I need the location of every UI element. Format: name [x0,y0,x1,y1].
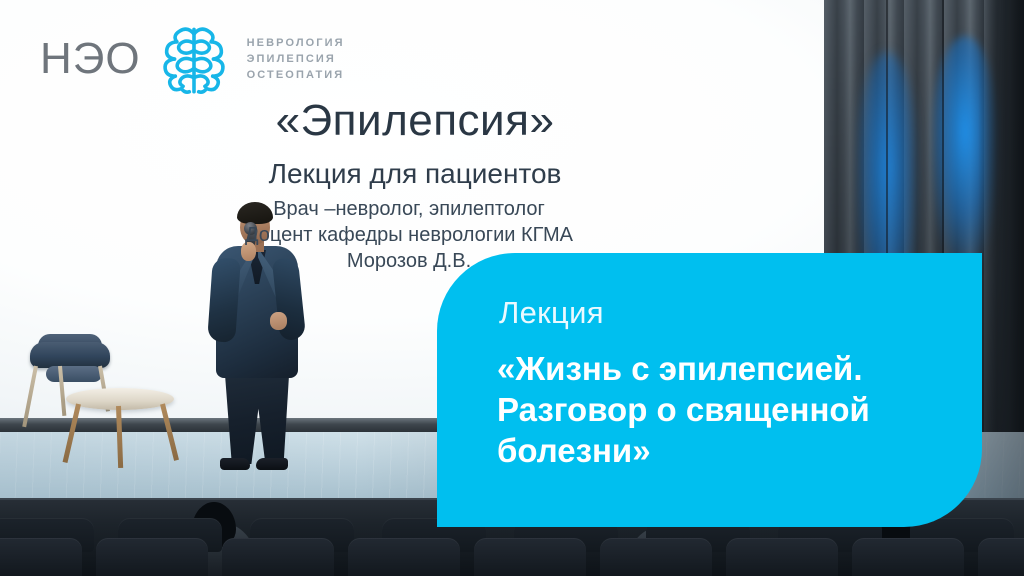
speaker-hand-right [270,312,287,330]
lecture-title-card: Лекция «Жизнь с эпилепсией. Разговор о с… [437,253,982,527]
armchair-cushion [46,366,102,382]
speaker-shoe-right [256,458,288,470]
speaker-legs [222,372,292,464]
brain-icon [155,20,233,98]
slide-credential-line-1: Врач –невролог, эпилептолог [0,198,818,221]
card-kicker-label: Лекция [499,295,604,331]
curtain-shadow-edge [978,0,1024,500]
brand-tagline-2: ЭПИЛЕПСИЯ [247,53,345,65]
theater-seat [348,538,460,576]
theater-seat [96,538,208,576]
screenshot-frame: «Эпилепсия» Лекция для пациентов Врач –н… [0,0,1024,576]
card-title: «Жизнь с эпилепсией. Разговор о священно… [497,349,967,472]
theater-seat [852,538,964,576]
slide-subtitle: Лекция для пациентов [0,158,830,190]
brand-tagline-3: ОСТЕОПАТИЯ [247,69,345,81]
theater-seat [726,538,838,576]
theater-seat [978,538,1024,576]
armchair-seat [30,342,110,368]
brand-tagline-1: НЕВРОЛОГИЯ [247,37,345,49]
brand-logo: НЭО [40,20,345,98]
card-title-line-1: «Жизнь с эпилепсией. [497,349,967,390]
brand-wordmark: НЭО [40,37,141,81]
brand-taglines: НЕВРОЛОГИЯ ЭПИЛЕПСИЯ ОСТЕОПАТИЯ [247,37,345,81]
theater-seat [0,538,82,576]
speaker-shoe-left [220,458,250,470]
slide-credential-line-2: Доцент кафедры неврологии КГМА [0,224,818,247]
card-title-line-3: болезни» [497,431,967,472]
card-title-line-2: Разговор о священной [497,390,967,431]
theater-seat [474,538,586,576]
theater-seat [600,538,712,576]
slide-title: «Эпилепсия» [0,96,830,146]
theater-seat [222,538,334,576]
